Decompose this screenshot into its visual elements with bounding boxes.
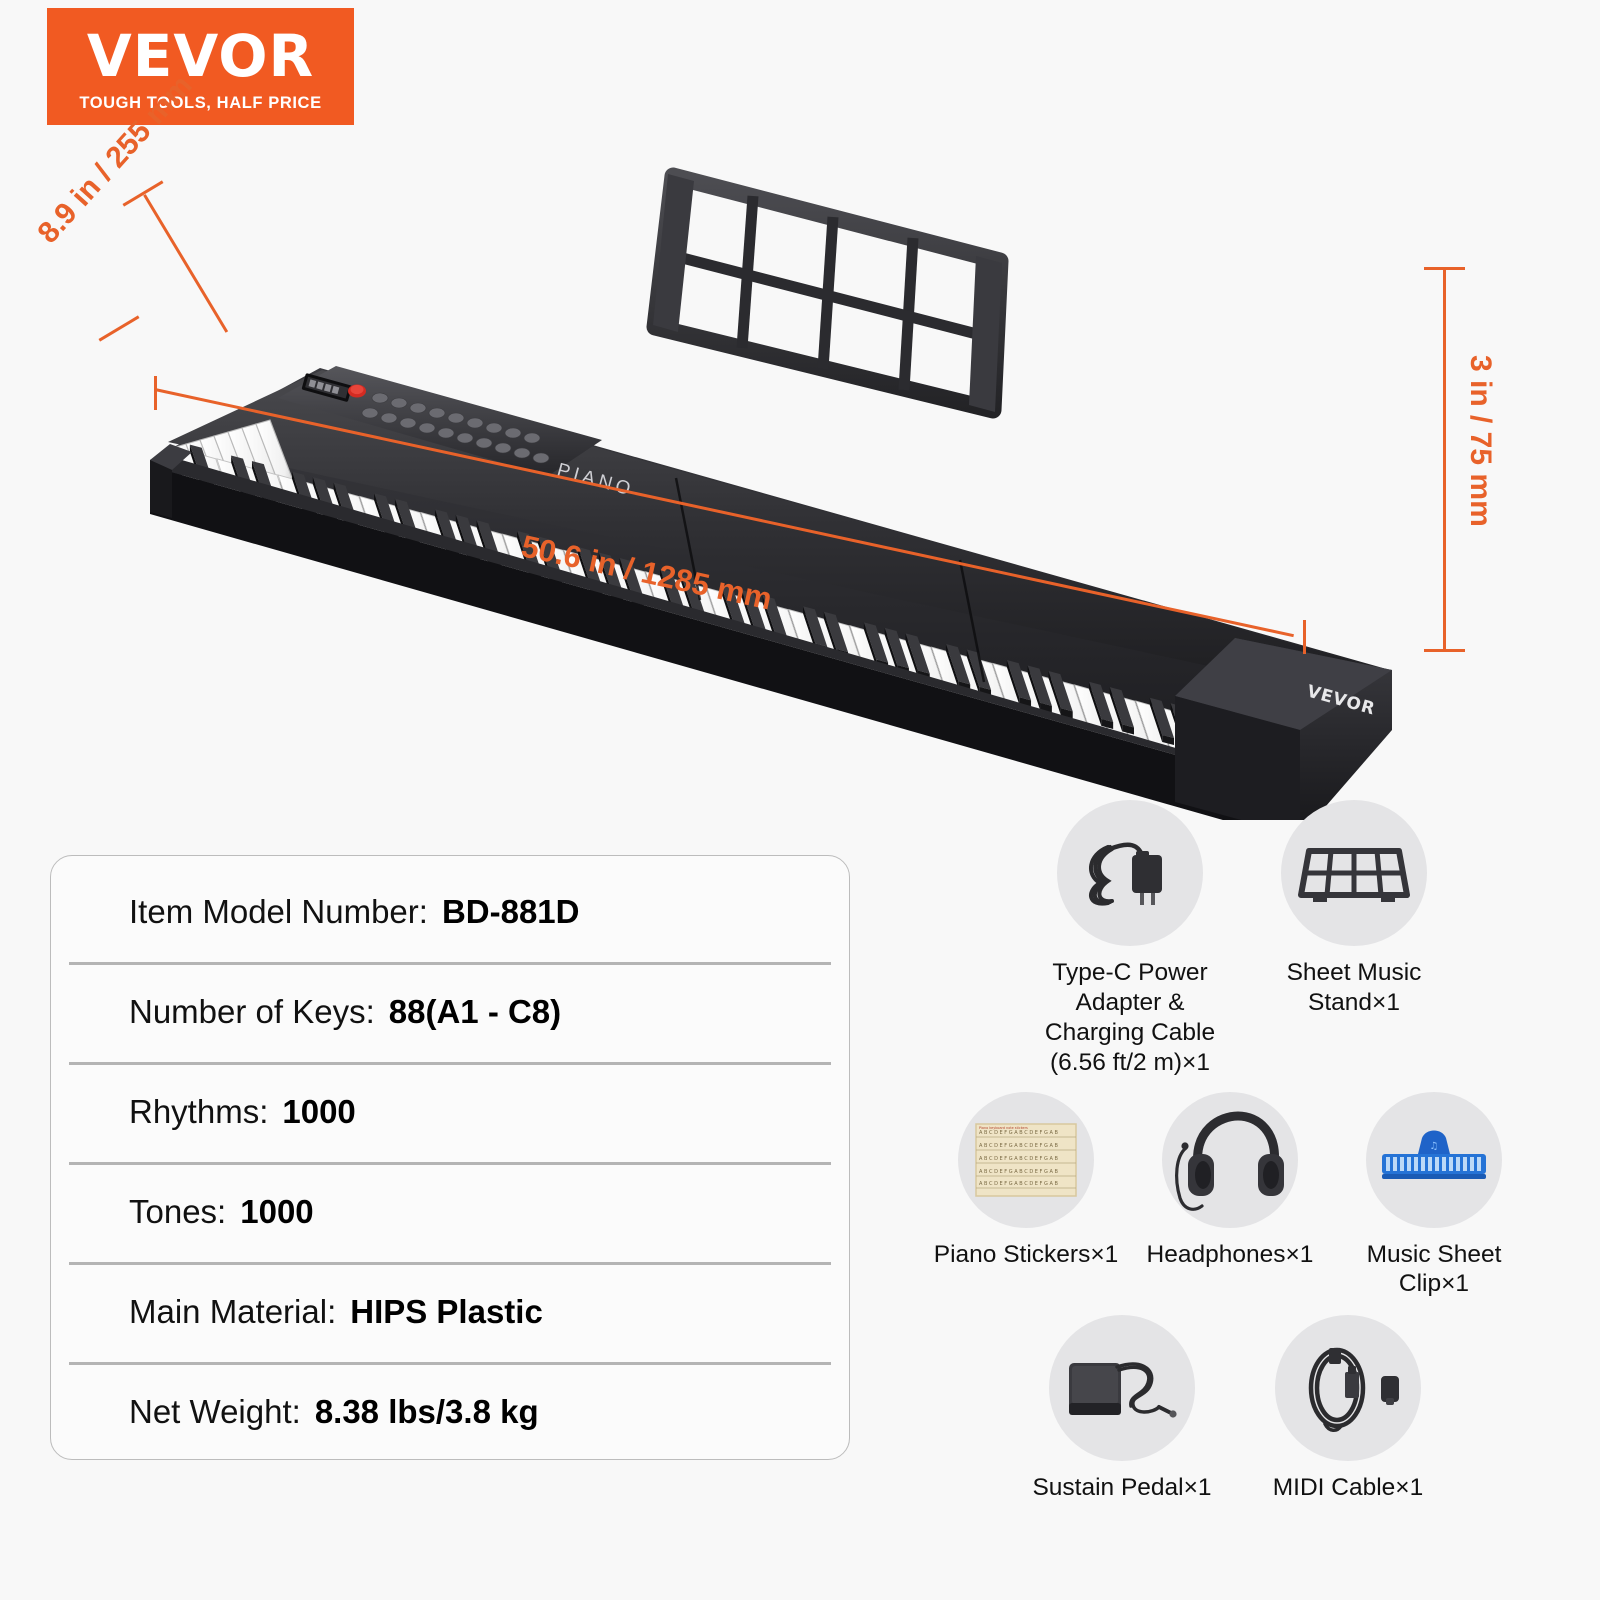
- spec-row: Tones: 1000: [51, 1162, 849, 1262]
- spec-row: Rhythms: 1000: [51, 1062, 849, 1162]
- brand-name: VEVOR: [87, 27, 314, 85]
- accessory-item: MIDI Cable×1: [1250, 1315, 1446, 1503]
- spec-value: BD-881D: [442, 893, 580, 931]
- width-dimension-cap-left: [154, 376, 157, 410]
- spec-label: Tones:: [129, 1193, 226, 1231]
- spec-label: Main Material:: [129, 1293, 336, 1331]
- spec-row: Item Model Number: BD-881D: [51, 862, 849, 962]
- midi-cable-icon: [1275, 1315, 1421, 1461]
- spec-value: 88(A1 - C8): [389, 993, 561, 1031]
- accessory-item: A B C D E F G A B C D E F G A B A B C D …: [928, 1092, 1124, 1300]
- accessory-caption: Sheet Music Stand×1: [1256, 958, 1452, 1018]
- spec-row: Main Material: HIPS Plastic: [51, 1262, 849, 1362]
- headphones-icon: [1162, 1092, 1298, 1228]
- accessory-item: ♫ Music Sheet C: [1336, 1092, 1532, 1300]
- product-infographic: VEVOR TOUGH TOOLS, HALF PRICE: [0, 0, 1600, 1600]
- height-dimension-cap-top: [1424, 267, 1465, 270]
- svg-text:A B C D E F G A B C D E F G A: A B C D E F G A B C D E F G A B: [979, 1181, 1058, 1187]
- svg-text:A B C D E F G A B C D E F G A: A B C D E F G A B C D E F G A B: [979, 1169, 1058, 1175]
- sheet-music-stand-icon: [1281, 800, 1427, 946]
- height-dimension-cap-bottom: [1424, 649, 1465, 652]
- accessory-item: Sheet Music Stand×1: [1256, 800, 1452, 1078]
- spec-row: Number of Keys: 88(A1 - C8): [51, 962, 849, 1062]
- accessory-row: Sustain Pedal×1: [910, 1315, 1560, 1503]
- specifications-panel: Item Model Number: BD-881D Number of Key…: [50, 855, 850, 1460]
- sustain-pedal-icon: [1049, 1315, 1195, 1461]
- accessory-caption: Type-C Power Adapter & Charging Cable (6…: [1032, 958, 1228, 1078]
- vevor-logo: VEVOR TOUGH TOOLS, HALF PRICE: [47, 8, 354, 125]
- height-dimension-line: [1443, 268, 1446, 650]
- spec-label: Number of Keys:: [129, 993, 375, 1031]
- music-sheet-clip-icon: ♫: [1366, 1092, 1502, 1228]
- svg-text:Piano keyboard note stickers: Piano keyboard note stickers: [979, 1126, 1028, 1130]
- sheet-music-stand-on-piano: [653, 174, 1002, 412]
- width-dimension-cap-right: [1303, 620, 1306, 654]
- spec-value: 1000: [282, 1093, 355, 1131]
- accessory-row: Type-C Power Adapter & Charging Cable (6…: [924, 800, 1560, 1078]
- accessories-list: Type-C Power Adapter & Charging Cable (6…: [900, 800, 1560, 1560]
- svg-text:♫: ♫: [1430, 1141, 1439, 1152]
- spec-value: 1000: [240, 1193, 313, 1231]
- brand-tagline: TOUGH TOOLS, HALF PRICE: [79, 94, 321, 113]
- accessory-caption: Music Sheet Clip×1: [1336, 1240, 1532, 1300]
- accessory-caption: Piano Stickers×1: [934, 1240, 1119, 1270]
- product-hero: PIANO VEVOR 8.9 in / 255 mm 50.6 in / 12…: [0, 130, 1600, 820]
- spec-label: Net Weight:: [129, 1393, 301, 1431]
- accessory-caption: Headphones×1: [1147, 1240, 1314, 1270]
- svg-text:A B C D E F G A B C D E F G A: A B C D E F G A B C D E F G A B: [979, 1130, 1058, 1136]
- spec-label: Item Model Number:: [129, 893, 428, 931]
- accessory-row: A B C D E F G A B C D E F G A B A B C D …: [900, 1092, 1560, 1300]
- digital-piano-illustration: PIANO VEVOR: [0, 130, 1600, 820]
- accessory-item: Type-C Power Adapter & Charging Cable (6…: [1032, 800, 1228, 1078]
- spec-label: Rhythms:: [129, 1093, 268, 1131]
- spec-row: Net Weight: 8.38 lbs/3.8 kg: [51, 1362, 849, 1462]
- spec-value: HIPS Plastic: [350, 1293, 543, 1331]
- height-dimension-label: 3 in / 75 mm: [1463, 355, 1497, 527]
- svg-text:A B C D E F G A B C D E F G A: A B C D E F G A B C D E F G A B: [979, 1156, 1058, 1162]
- svg-text:A B C D E F G A B C D E F G A: A B C D E F G A B C D E F G A B: [979, 1143, 1058, 1149]
- accessory-caption: MIDI Cable×1: [1273, 1473, 1423, 1503]
- power-adapter-icon: [1057, 800, 1203, 946]
- spec-value: 8.38 lbs/3.8 kg: [315, 1393, 539, 1431]
- piano-stickers-icon: A B C D E F G A B C D E F G A B A B C D …: [958, 1092, 1094, 1228]
- accessory-item: Headphones×1: [1132, 1092, 1328, 1300]
- accessory-item: Sustain Pedal×1: [1024, 1315, 1220, 1503]
- accessory-caption: Sustain Pedal×1: [1032, 1473, 1211, 1503]
